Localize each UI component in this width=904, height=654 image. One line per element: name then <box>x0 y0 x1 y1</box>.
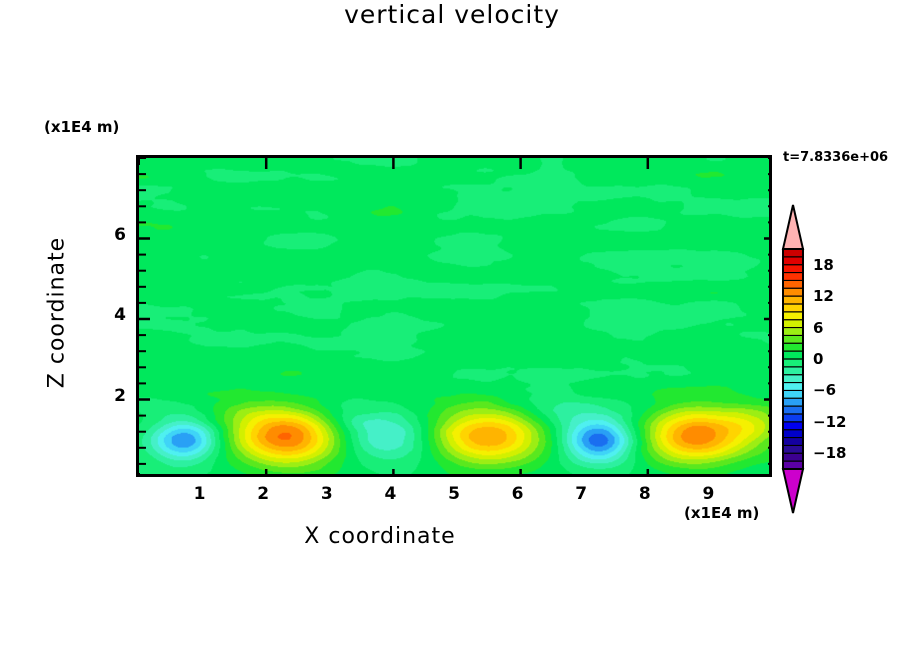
colorbar-band <box>783 445 803 453</box>
x-tick-label: 4 <box>375 484 405 504</box>
colorbar-tick-label: 0 <box>813 350 823 368</box>
colorbar-band <box>783 280 803 288</box>
y-tick-label: 4 <box>96 305 126 325</box>
x-axis-title: X coordinate <box>0 524 760 549</box>
colorbar-band <box>783 249 803 257</box>
colorbar-band <box>783 422 803 430</box>
axis-tick-marks <box>139 158 772 477</box>
colorbar-band <box>783 312 803 320</box>
y-axis-unit-label: (x1E4 m) <box>44 118 119 136</box>
colorbar-band <box>783 273 803 281</box>
colorbar-band <box>783 406 803 414</box>
colorbar-band <box>783 288 803 296</box>
colorbar-band <box>783 375 803 383</box>
colorbar-band <box>783 438 803 446</box>
colorbar-tick-label: −6 <box>813 381 836 399</box>
colorbar-tick-label: 18 <box>813 256 834 274</box>
colorbar-tick-label: −18 <box>813 444 846 462</box>
x-tick-label: 2 <box>248 484 278 504</box>
colorbar-band <box>783 430 803 438</box>
y-axis-title: Z coordinate <box>45 223 70 403</box>
colorbar-band <box>783 414 803 422</box>
colorbar-band <box>783 343 803 351</box>
colorbar-band <box>783 398 803 406</box>
y-tick-label: 6 <box>96 225 126 245</box>
colorbar-band <box>783 257 803 265</box>
colorbar-band <box>783 367 803 375</box>
x-tick-label: 5 <box>439 484 469 504</box>
colorbar-band <box>783 320 803 328</box>
colorbar-band <box>783 304 803 312</box>
x-tick-label: 9 <box>693 484 723 504</box>
timestamp-annotation: t=7.8336e+06 <box>783 150 888 165</box>
x-axis-unit-label: (x1E4 m) <box>684 504 759 522</box>
colorbar-extend-low <box>783 469 803 513</box>
colorbar-tick-label: 12 <box>813 287 834 305</box>
x-tick-label: 3 <box>312 484 342 504</box>
x-tick-label: 1 <box>185 484 215 504</box>
colorbar-band <box>783 453 803 461</box>
colorbar-band <box>783 296 803 304</box>
x-tick-label: 8 <box>630 484 660 504</box>
colorbar-tick-label: −12 <box>813 413 846 431</box>
contour-plot-area <box>136 155 772 477</box>
colorbar-band <box>783 335 803 343</box>
colorbar-band <box>783 383 803 391</box>
colorbar <box>779 203 813 515</box>
colorbar-tick-label: 6 <box>813 319 823 337</box>
x-tick-label: 6 <box>503 484 533 504</box>
colorbar-band <box>783 265 803 273</box>
colorbar-band <box>783 351 803 359</box>
colorbar-band <box>783 328 803 336</box>
x-tick-label: 7 <box>566 484 596 504</box>
y-tick-label: 2 <box>96 386 126 406</box>
colorbar-band <box>783 359 803 367</box>
page-title: vertical velocity <box>0 0 904 29</box>
colorbar-gradient <box>779 203 813 515</box>
colorbar-band <box>783 390 803 398</box>
colorbar-extend-high <box>783 205 803 249</box>
